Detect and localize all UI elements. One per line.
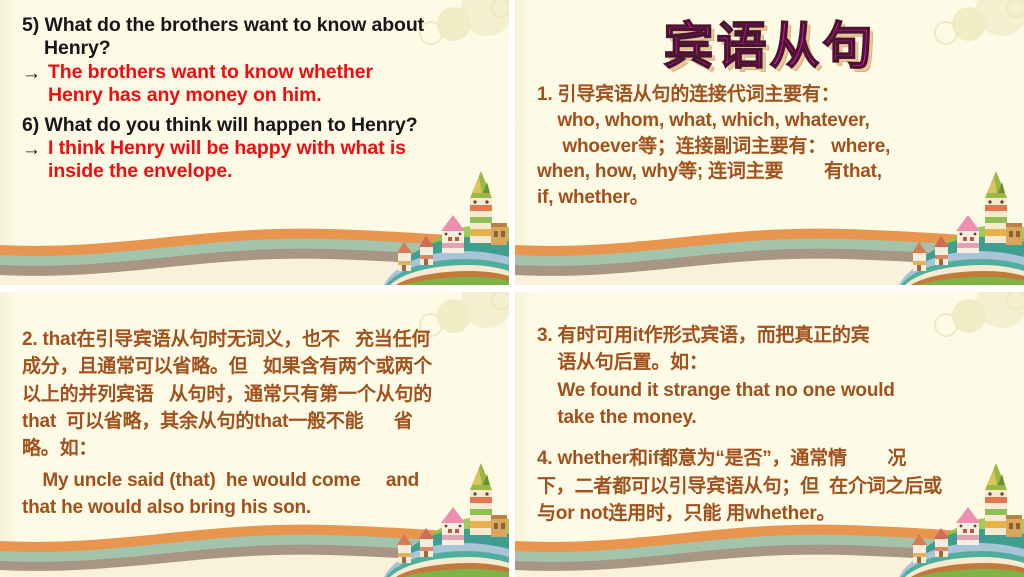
question-6-line1: 6) What do you think will happen to Henr… xyxy=(22,114,487,137)
rule-1-line: who, whom, what, which, whatever, xyxy=(537,108,1002,134)
rule-1-line: whoever等；连接副词主要有： where, xyxy=(537,134,1002,160)
rule-4-body: 4. whether和if都意为“是否”，通常情 况 下，二者都可以引导宾语从句… xyxy=(537,445,1002,527)
answer-5: → The brothers want to know whether Henr… xyxy=(22,61,487,107)
answer-6-line1: I think Henry will be happy with what is xyxy=(48,137,406,160)
rule-2-line: 2. that在引导宾语从句时无词义，也不 充当任何 xyxy=(22,326,487,353)
wavy-bands-icon xyxy=(515,215,1024,285)
rule-2-line: that 可以省略，其余从句的that一般不能 省 xyxy=(22,408,487,435)
slide-content: 宾语从句 1. 引导宾语从句的连接代词主要有： who, whom, what,… xyxy=(515,0,1024,211)
slide-content: 2. that在引导宾语从句时无词义，也不 充当任何 成分，且通常可以省略。但 … xyxy=(0,292,509,522)
answer-6-line2: inside the envelope. xyxy=(48,160,406,183)
rule-2-line: 以上的并列宾语 从句时，通常只有第一个从句的 xyxy=(22,381,487,408)
rule-1-line: when, how, why等; 连词主要 有that, xyxy=(537,159,1002,185)
slide-questions[interactable]: 5) What do the brothers want to know abo… xyxy=(0,0,509,285)
spacer xyxy=(537,431,1002,445)
rule-2-example-line: My uncle said (that) he would come and xyxy=(22,467,487,494)
rule-2-example: My uncle said (that) he would come and t… xyxy=(22,467,487,522)
slide-title-rule1[interactable]: 宾语从句 1. 引导宾语从句的连接代词主要有： who, whom, what,… xyxy=(515,0,1024,285)
rule-3-line: take the money. xyxy=(537,404,1002,431)
wavy-bands-icon xyxy=(0,215,509,285)
answer-5-line1: The brothers want to know whether xyxy=(48,61,373,84)
rule-3-line: We found it strange that no one would xyxy=(537,377,1002,404)
slide-rule3-4[interactable]: 3. 有时可用it作形式宾语，而把真正的宾 语从句后置。如： We found … xyxy=(515,292,1024,577)
answer-5-line2: Henry has any money on him. xyxy=(48,84,373,107)
question-5-line1: 5) What do the brothers want to know abo… xyxy=(22,14,487,37)
rule-4-line: 与or not连用时，只能 用whether。 xyxy=(537,500,1002,527)
rule-1-body: 1. 引导宾语从句的连接代词主要有： who, whom, what, whic… xyxy=(537,82,1002,211)
rule-4-line: 4. whether和if都意为“是否”，通常情 况 xyxy=(537,445,1002,472)
right-arrow-icon: → xyxy=(22,137,48,160)
right-arrow-icon: → xyxy=(22,61,48,84)
slide-content: 5) What do the brothers want to know abo… xyxy=(0,0,509,183)
rule-2-line: 略。如： xyxy=(22,435,487,462)
slide-grid: 5) What do the brothers want to know abo… xyxy=(0,0,1024,577)
slide-rule2[interactable]: 2. that在引导宾语从句时无词义，也不 充当任何 成分，且通常可以省略。但 … xyxy=(0,292,509,577)
rule-2-line: 成分，且通常可以省略。但 如果含有两个或两个 xyxy=(22,353,487,380)
slide-content: 3. 有时可用it作形式宾语，而把真正的宾 语从句后置。如： We found … xyxy=(515,292,1024,528)
rule-3-line: 语从句后置。如： xyxy=(537,349,1002,376)
rule-2-body: 2. that在引导宾语从句时无词义，也不 充当任何 成分，且通常可以省略。但 … xyxy=(22,326,487,463)
rule-1-line: if, whether。 xyxy=(537,185,1002,211)
rule-3-line: 3. 有时可用it作形式宾语，而把真正的宾 xyxy=(537,322,1002,349)
page-title: 宾语从句 xyxy=(537,20,1002,72)
answer-6: → I think Henry will be happy with what … xyxy=(22,137,487,183)
question-5-line2: Henry? xyxy=(22,37,487,60)
rule-4-line: 下，二者都可以引导宾语从句；但 在介词之后或 xyxy=(537,473,1002,500)
rule-1-line: 1. 引导宾语从句的连接代词主要有： xyxy=(537,82,1002,108)
spacer xyxy=(22,107,487,114)
rule-3-body: 3. 有时可用it作形式宾语，而把真正的宾 语从句后置。如： We found … xyxy=(537,322,1002,431)
rule-2-example-line: that he would also bring his son. xyxy=(22,494,487,521)
